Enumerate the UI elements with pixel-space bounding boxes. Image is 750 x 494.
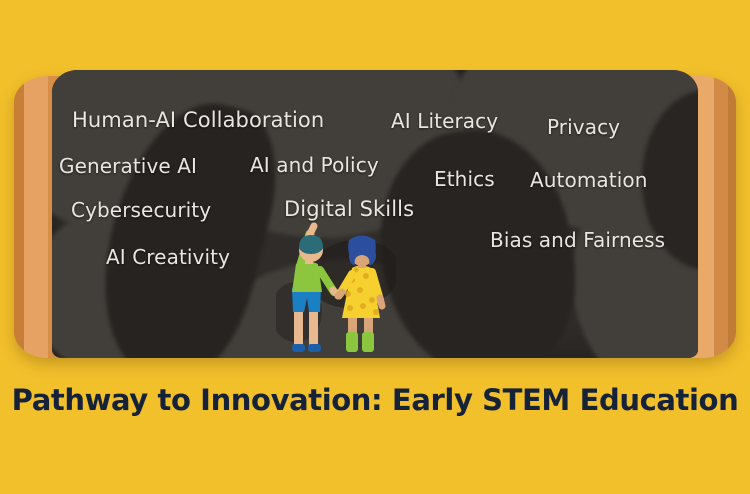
chalk-topic-label: Human-AI Collaboration: [72, 108, 324, 132]
chalk-topic-label: Automation: [530, 168, 647, 192]
chalk-topic-label: Bias and Fairness: [490, 228, 665, 252]
chalk-topic-label: AI and Policy: [250, 153, 379, 177]
chalk-topic-label: Generative AI: [59, 154, 197, 178]
two-children-illustration: [276, 216, 396, 358]
chalk-topic-label: AI Literacy: [391, 109, 498, 133]
chalk-topic-label: Privacy: [547, 115, 620, 139]
chalk-topic-label: Ethics: [434, 167, 495, 191]
page-title: Pathway to Innovation: Early STEM Educat…: [0, 383, 750, 417]
chalk-topic-label: Cybersecurity: [71, 198, 211, 222]
chalk-topic-label: AI Creativity: [106, 245, 230, 269]
poster-canvas: Human-AI CollaborationAI LiteracyPrivacy…: [0, 0, 750, 494]
